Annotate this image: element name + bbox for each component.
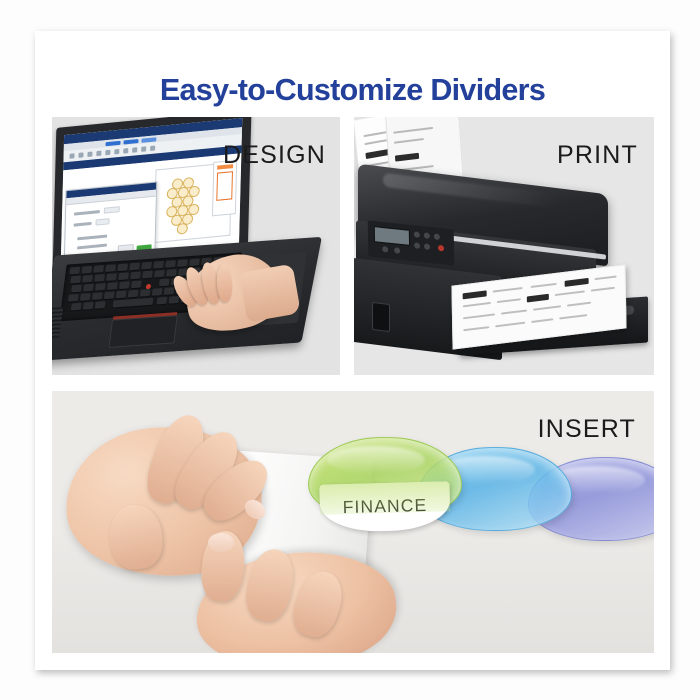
panel-design: DESIGN [52, 117, 340, 375]
fingernail [208, 533, 234, 552]
screenshot-stage: Easy-to-Customize Dividers [0, 0, 700, 700]
page-title: Easy-to-Customize Dividers [35, 73, 670, 108]
field-input[interactable] [104, 206, 120, 214]
laptop-screen [61, 118, 243, 264]
printer-button[interactable] [434, 233, 440, 240]
laptop-vents [52, 307, 63, 339]
toolbar-icon [105, 150, 110, 156]
printer-button[interactable] [382, 246, 388, 253]
toolbar-icon [78, 152, 83, 158]
radio-label [77, 244, 107, 249]
toolbar-icon [114, 149, 119, 155]
toolbar-icon [132, 147, 137, 153]
toolbar-icon [123, 148, 128, 154]
trackpoint-icon[interactable] [146, 284, 152, 289]
panel-caption-print: PRINT [557, 141, 638, 170]
panel-caption-design: DESIGN [223, 141, 326, 170]
panel-insert: FINANCE [52, 391, 654, 653]
printer-lcd-display [374, 226, 410, 246]
caption-text: INSERT [538, 415, 636, 443]
printer-button[interactable] [414, 231, 420, 238]
panel-caption-insert: INSERT [538, 415, 636, 444]
printer-button[interactable] [424, 243, 430, 250]
hand-lower [172, 531, 412, 653]
toolbar-icon [69, 153, 74, 159]
printer-power-button[interactable] [438, 245, 444, 252]
selected-template-thumb[interactable] [216, 171, 233, 201]
field-label [74, 222, 92, 226]
product-feature-card: Easy-to-Customize Dividers [35, 31, 670, 670]
radio-label [77, 234, 107, 239]
field-input[interactable] [96, 218, 110, 225]
printer-button[interactable] [424, 232, 430, 239]
lid-highlight [383, 173, 558, 208]
panel-print: PRINT [354, 117, 654, 375]
printer-memory-card-slot[interactable] [372, 302, 390, 332]
wrist [239, 264, 301, 323]
toolbar-icon [141, 146, 146, 152]
field-label [74, 210, 100, 215]
printer-button[interactable] [414, 242, 420, 249]
toolbar-icon [150, 145, 155, 151]
insert-label-text: FINANCE [342, 494, 427, 517]
hand-on-keyboard [167, 246, 285, 334]
toolbar-icon [87, 152, 92, 158]
printer-button[interactable] [394, 247, 400, 254]
toolbar-icon [96, 151, 101, 157]
